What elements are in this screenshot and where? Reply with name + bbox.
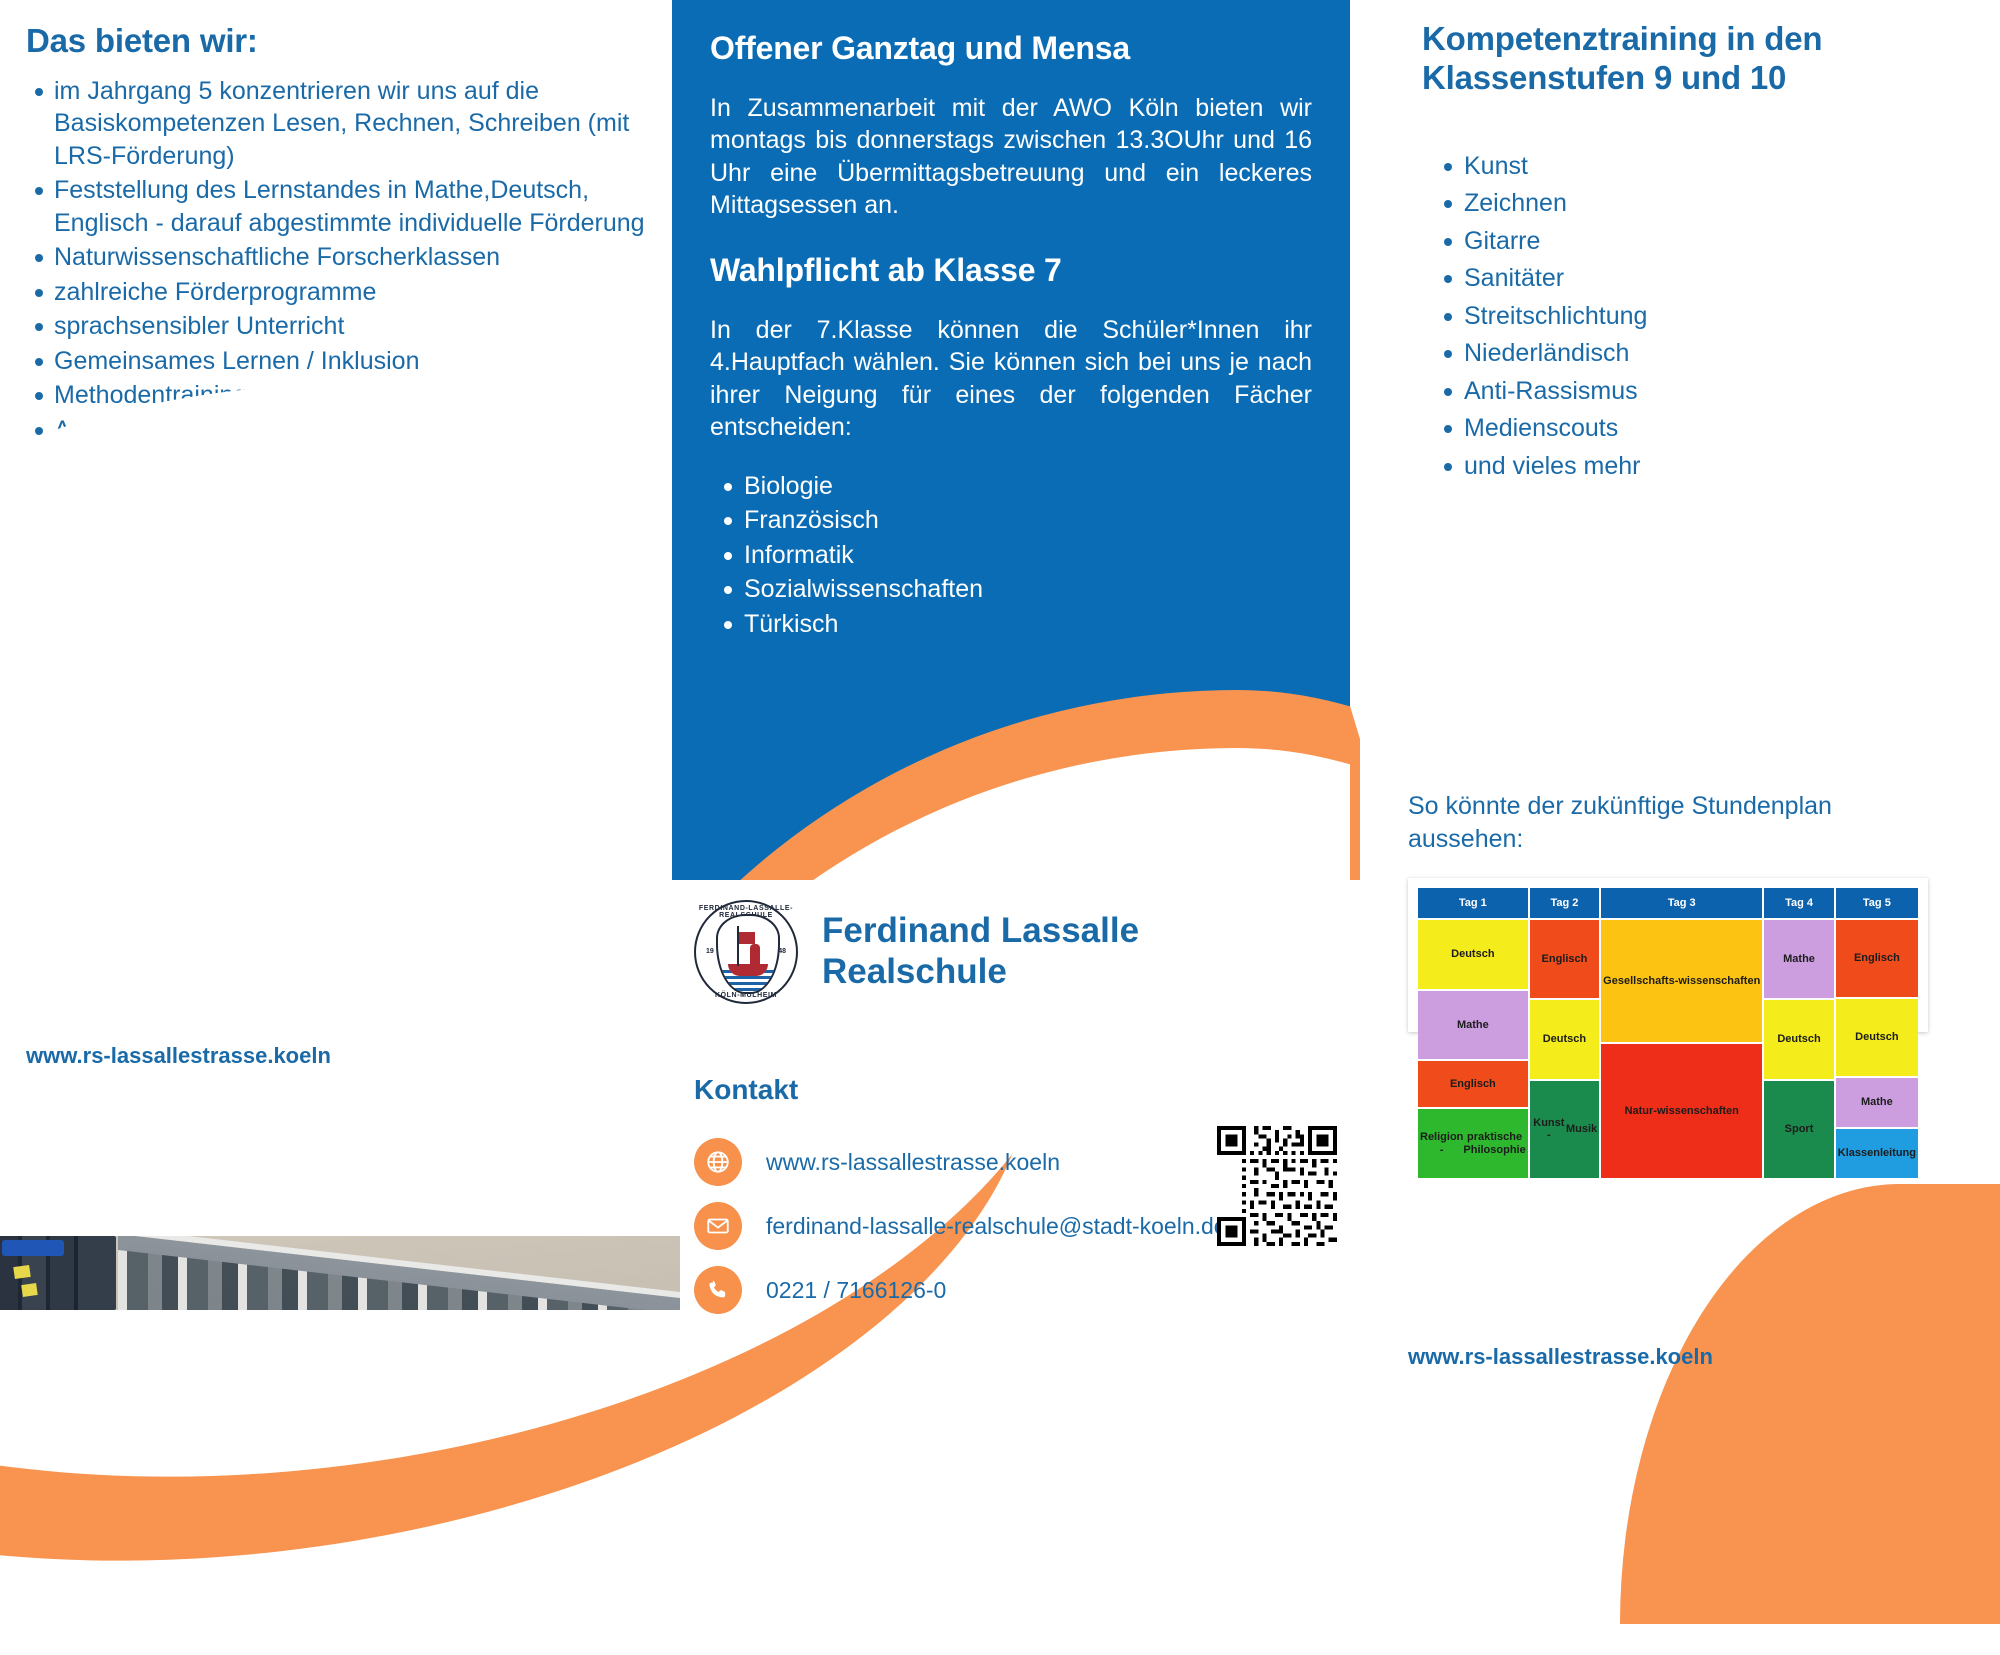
timetable-header: Tag 2 [1530, 888, 1599, 918]
right-column-text: Kompetenztraining in den Klassenstufen 9… [1422, 20, 1942, 487]
school-identity: FERDINAND-LASSALLE-REALSCHULE KÖLN-MÜLHE… [694, 900, 1334, 1004]
list-item: Sozialwissenschaften [710, 573, 1312, 606]
timetable-column: Tag 2EnglischDeutschKunst - Musik [1530, 888, 1599, 1178]
flyer-page: Das bieten wir: im Jahrgang 5 konzentrie… [0, 0, 2000, 1414]
timetable-cell: Mathe [1836, 1078, 1918, 1127]
orange-corner-shape [1620, 1184, 2000, 1624]
contact-title: Kontakt [694, 1074, 798, 1106]
timetable-cell: Sport [1764, 1081, 1833, 1178]
timetable-cell: Kunst - Musik [1530, 1081, 1599, 1178]
list-item: Informatik [710, 539, 1312, 572]
timetable-header: Tag 3 [1601, 888, 1762, 918]
school-name-line-2: Realschule [822, 952, 1139, 993]
timetable-cell: Deutsch [1764, 1000, 1833, 1078]
mid-paragraph-ganztag: In Zusammenarbeit mit der AWO Köln biete… [710, 92, 1312, 222]
qr-code-icon[interactable] [1217, 1126, 1337, 1246]
timetable-image: Tag 1DeutschMatheEnglischReligion - prak… [1408, 878, 1908, 998]
timetable-cell: Deutsch [1836, 999, 1918, 1076]
mail-icon [694, 1202, 742, 1250]
timetable-cell: Natur-wissenschaften [1601, 1044, 1762, 1178]
contact-row-email[interactable]: ferdinand-lassalle-realschule@stadt-koel… [694, 1202, 1227, 1250]
left-footer-url[interactable]: www.rs-lassallestrasse.koeln [26, 1043, 331, 1069]
timetable-column: Tag 3Gesellschafts-wissenschaftenNatur-w… [1601, 888, 1762, 1178]
timetable-cell: Klassenleitung [1836, 1129, 1918, 1178]
timetable-cell: Englisch [1530, 920, 1599, 998]
timetable-column: Tag 1DeutschMatheEnglischReligion - prak… [1418, 888, 1528, 1178]
contact-row-phone[interactable]: 0221 / 7166126-0 [694, 1266, 946, 1314]
timetable-header: Tag 1 [1418, 888, 1528, 918]
list-item: sprachsensibler Unterricht [26, 310, 646, 343]
phone-icon [694, 1266, 742, 1314]
timetable-cell: Mathe [1764, 920, 1833, 998]
list-item: Anti-Rassismus [1422, 375, 1942, 408]
list-item: Streitschlichtung [1422, 300, 1942, 333]
mid-subject-list: BiologieFranzösischInformatikSozialwisse… [710, 470, 1312, 641]
contact-phone-value[interactable]: 0221 / 7166126-0 [766, 1277, 946, 1304]
contact-row-website[interactable]: www.rs-lassallestrasse.koeln [694, 1138, 1060, 1186]
list-item: Medienscouts [1422, 412, 1942, 445]
list-item: Türkisch [710, 608, 1312, 641]
middle-blue-panel: Offener Ganztag und Mensa In Zusammenarb… [672, 0, 1350, 880]
photo-students [0, 1236, 680, 1310]
list-item: im Jahrgang 5 konzentrieren wir uns auf … [26, 75, 646, 173]
right-heading: Kompetenztraining in den Klassenstufen 9… [1422, 20, 1942, 98]
crest-year-left: 19 [706, 948, 714, 955]
mid-heading-wahlpflicht: Wahlpflicht ab Klasse 7 [710, 252, 1312, 290]
timetable-grid: Tag 1DeutschMatheEnglischReligion - prak… [1418, 888, 1918, 1178]
list-item: Naturwissenschaftliche Forscherklassen [26, 241, 646, 274]
timetable-header: Tag 4 [1764, 888, 1833, 918]
right-footer-url[interactable]: www.rs-lassallestrasse.koeln [1408, 1344, 1713, 1370]
timetable-cell: Deutsch [1418, 920, 1528, 989]
timetable-header: Tag 5 [1836, 888, 1918, 918]
list-item: Sanitäter [1422, 262, 1942, 295]
list-item: zahlreiche Förderprogramme [26, 276, 646, 309]
list-item: Zeichnen [1422, 187, 1942, 220]
identity-and-contact: FERDINAND-LASSALLE-REALSCHULE KÖLN-MÜLHE… [672, 886, 1362, 1414]
crest-shield [716, 914, 780, 994]
timetable-column: Tag 5EnglischDeutschMatheKlassenleitung [1836, 888, 1918, 1178]
left-column: Das bieten wir: im Jahrgang 5 konzentrie… [0, 0, 672, 1414]
list-item: Kunst [1422, 150, 1942, 183]
school-name: Ferdinand Lassalle Realschule [822, 911, 1139, 993]
timetable-cell: Gesellschafts-wissenschaften [1601, 920, 1762, 1042]
list-item: Gemeinsames Lernen / Inklusion [26, 345, 646, 378]
list-item: Niederländisch [1422, 337, 1942, 370]
list-item: Französisch [710, 504, 1312, 537]
list-item: Gitarre [1422, 225, 1942, 258]
list-item: Biologie [710, 470, 1312, 503]
mid-paragraph-wahlpflicht: In der 7.Klasse können die Schüler*Innen… [710, 314, 1312, 444]
list-item: Feststellung des Lernstandes in Mathe,De… [26, 174, 646, 239]
list-item: und vieles mehr [1422, 450, 1942, 483]
right-bullet-list: KunstZeichnenGitarreSanitäterStreitschli… [1422, 150, 1942, 483]
globe-icon [694, 1138, 742, 1186]
school-name-line-1: Ferdinand Lassalle [822, 911, 1139, 952]
school-crest-icon: FERDINAND-LASSALLE-REALSCHULE KÖLN-MÜLHE… [694, 900, 798, 1004]
school-photo [0, 618, 680, 1310]
contact-email-value[interactable]: ferdinand-lassalle-realschule@stadt-koel… [766, 1213, 1227, 1240]
right-column: Kompetenztraining in den Klassenstufen 9… [1360, 0, 2000, 1414]
contact-website-value[interactable]: www.rs-lassallestrasse.koeln [766, 1149, 1060, 1176]
timetable-cell: Englisch [1836, 920, 1918, 997]
timetable-cell: Deutsch [1530, 1000, 1599, 1078]
timetable-caption: So könnte der zukünftige Stundenplan aus… [1408, 790, 1928, 855]
timetable-cell: Religion - praktische Philosophie [1418, 1109, 1528, 1178]
timetable-column: Tag 4MatheDeutschSport [1764, 888, 1833, 1178]
timetable-cell: Englisch [1418, 1061, 1528, 1107]
timetable-cell: Mathe [1418, 991, 1528, 1060]
left-heading: Das bieten wir: [26, 22, 646, 61]
mid-heading-ganztag: Offener Ganztag und Mensa [710, 30, 1312, 68]
